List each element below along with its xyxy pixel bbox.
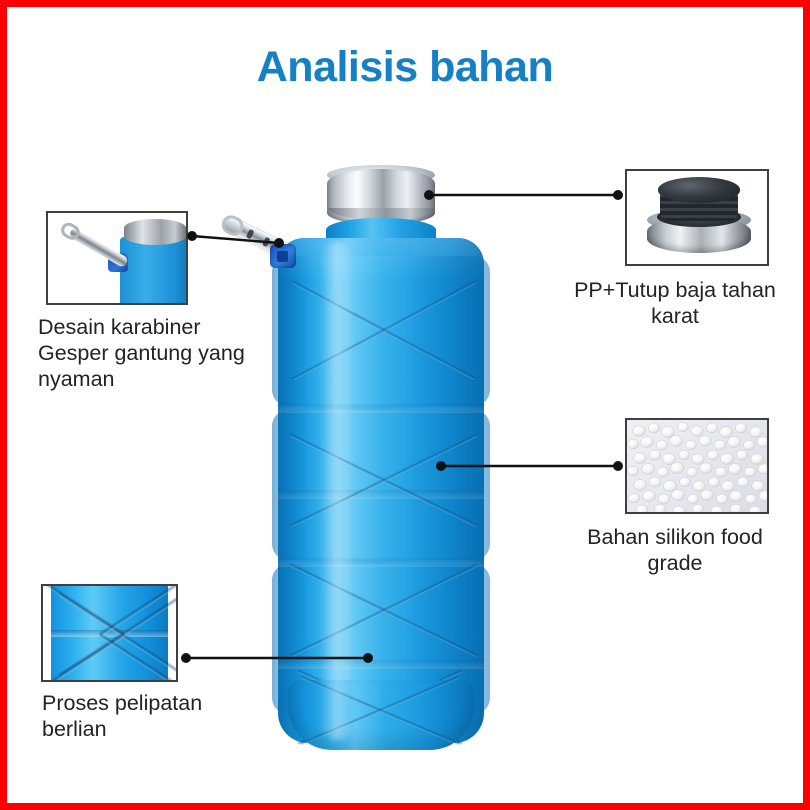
bottle-ridge-3 [278,558,484,567]
carabiner-loop-hole [277,251,288,262]
callout-image-folding [41,584,178,682]
page-title: Analisis bahan [0,44,810,91]
callout-caption-cap: PP+Tutup baja tahan karat [548,277,802,329]
frame-border-bottom [0,803,810,810]
callout-image-carabiner [46,211,188,305]
connector-dot-cap-target [613,190,623,200]
bottle-ridge-2 [278,490,484,499]
connector-dot-carabiner-target [187,231,197,241]
bottle-highlight [320,242,354,740]
bottle-ridge-4 [278,660,484,669]
callout-carabiner-bottle [120,237,186,303]
frame-border-left [0,0,7,810]
callout-caption-carabiner: Desain karabiner Gesper gantung yang nya… [38,314,300,393]
frame-border-right [803,0,810,810]
product-infographic-poster: Analisis bahan [0,0,810,810]
product-image-main [268,160,508,770]
bottle-fold-section-2 [272,410,490,560]
callout-caption-folding: Proses pelipatan berlian [42,690,292,742]
connector-dot-silicone-target [613,461,623,471]
frame-border-top [0,0,810,7]
callout-image-silicone [625,418,769,514]
callout-silicone-pellets [627,420,767,512]
callout-cap-pp-top [658,177,740,203]
callout-carabiner-cap [124,219,186,245]
connector-dot-folding-target [181,653,191,663]
callout-image-cap [625,169,769,266]
bottle-ridge-1 [278,404,484,413]
callout-caption-silicone: Bahan silikon food grade [548,524,802,576]
